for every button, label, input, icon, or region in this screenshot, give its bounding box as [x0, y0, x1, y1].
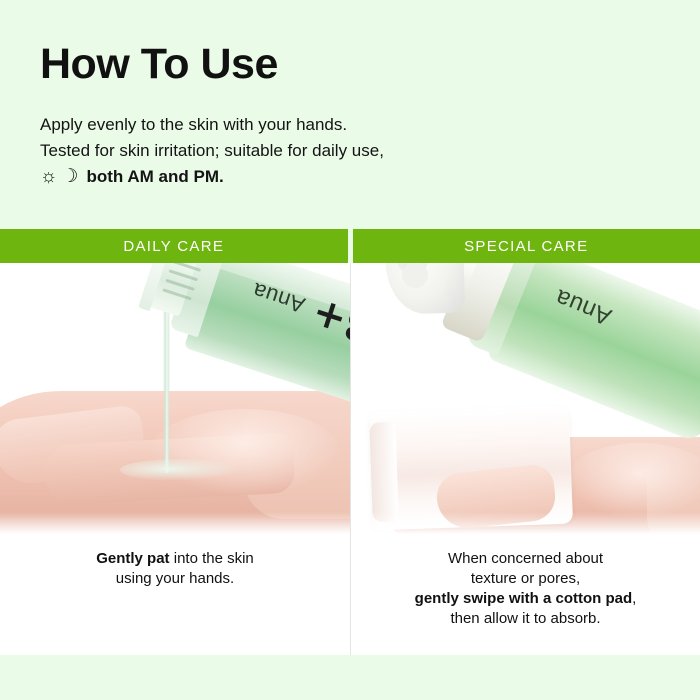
banner-cell-special: SPECIAL CARE: [353, 229, 700, 263]
page-title: How To Use: [40, 40, 700, 88]
caption-bold-text: gently swipe with a cotton pad: [415, 590, 633, 607]
intro-text-block: Apply evenly to the skin with your hands…: [40, 112, 700, 190]
caption-rest-text: ,: [632, 590, 636, 607]
daily-care-photo: Anua 3+: [0, 263, 350, 538]
caption-line-3: gently swipe with a cotton pad,: [351, 589, 700, 609]
caption-line-1: When concerned about: [351, 549, 700, 569]
caption-line-2: texture or pores,: [351, 569, 700, 589]
intro-line-2: Tested for skin irritation; suitable for…: [40, 138, 700, 164]
photo-fade: [0, 512, 350, 538]
special-care-caption: When concerned about texture or pores, g…: [351, 549, 700, 629]
flip-cap-hinge: [402, 263, 429, 288]
liquid-pool: [120, 459, 240, 481]
daily-care-caption: Gently pat into the skin using your hand…: [0, 549, 350, 589]
caption-rest-text: into the skin: [170, 550, 254, 567]
flip-cap: [384, 263, 466, 315]
special-care-label: SPECIAL CARE: [464, 238, 588, 255]
caption-bold-text: Gently pat: [96, 550, 169, 567]
intro-line-1: Apply evenly to the skin with your hands…: [40, 112, 700, 138]
daily-care-column: Anua 3+ Gently pat into the skin using y…: [0, 263, 350, 655]
palm-highlight: [150, 409, 340, 495]
caption-line-4: then allow it to absorb.: [351, 609, 700, 629]
special-care-column: Anua When concerned about texture or por…: [350, 263, 700, 655]
header-section: How To Use Apply evenly to the skin with…: [0, 0, 700, 229]
sun-icon: ☼: [40, 164, 57, 190]
care-panel: Anua 3+ Gently pat into the skin using y…: [0, 263, 700, 655]
care-banner: DAILY CARE SPECIAL CARE: [0, 229, 700, 263]
special-care-photo: Anua: [351, 263, 700, 538]
moon-icon: ☽: [61, 164, 78, 190]
photo-fade: [351, 512, 700, 538]
caption-line-1: Gently pat into the skin: [0, 549, 350, 569]
banner-cell-daily: DAILY CARE: [0, 229, 348, 263]
how-to-use-page: How To Use Apply evenly to the skin with…: [0, 0, 700, 700]
caption-line-2: using your hands.: [0, 569, 350, 589]
ampm-line: ☼ ☽ both AM and PM.: [40, 164, 700, 190]
cotton-pad-fold: [369, 422, 398, 523]
daily-care-label: DAILY CARE: [123, 238, 224, 255]
ampm-label: both AM and PM.: [86, 164, 223, 190]
